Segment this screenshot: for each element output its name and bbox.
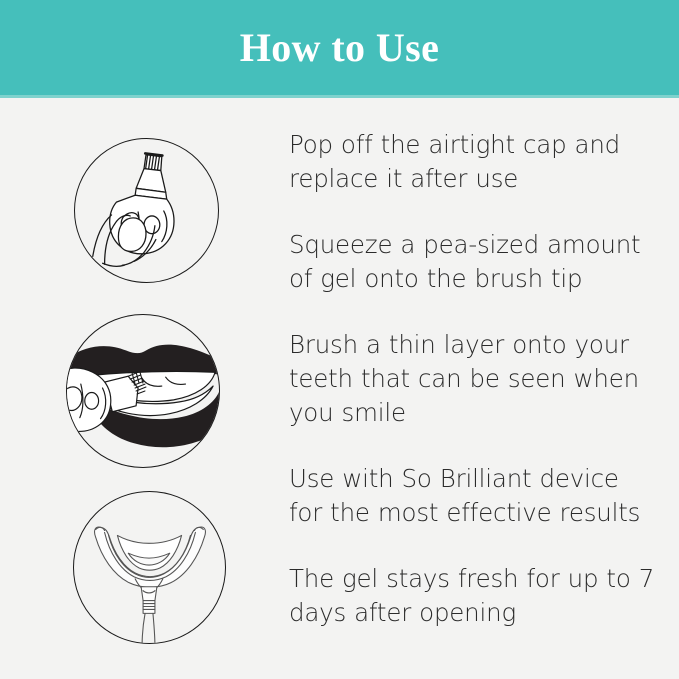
instruction-step: The gel stays fresh for up to 7 days aft… (289, 562, 659, 630)
content-area: Pop off the airtight cap and replace it … (0, 98, 679, 679)
header-banner: How to Use (0, 0, 679, 95)
instruction-step: Squeeze a pea-sized amount of gel onto t… (289, 228, 659, 296)
instruction-step: Pop off the airtight cap and replace it … (289, 128, 659, 196)
brushing-gel-on-teeth-icon (66, 314, 220, 468)
instruction-step: Use with So Brilliant device for the mos… (289, 462, 659, 530)
page-title: How to Use (240, 28, 440, 68)
whitening-mouthpiece-device-icon (73, 491, 226, 644)
instruction-steps-list: Pop off the airtight cap and replace it … (289, 128, 659, 630)
how-to-use-infographic: How to Use (0, 0, 679, 679)
hand-holding-gel-tube-icon (74, 138, 219, 283)
instruction-step: Brush a thin layer onto your teeth that … (289, 328, 659, 430)
